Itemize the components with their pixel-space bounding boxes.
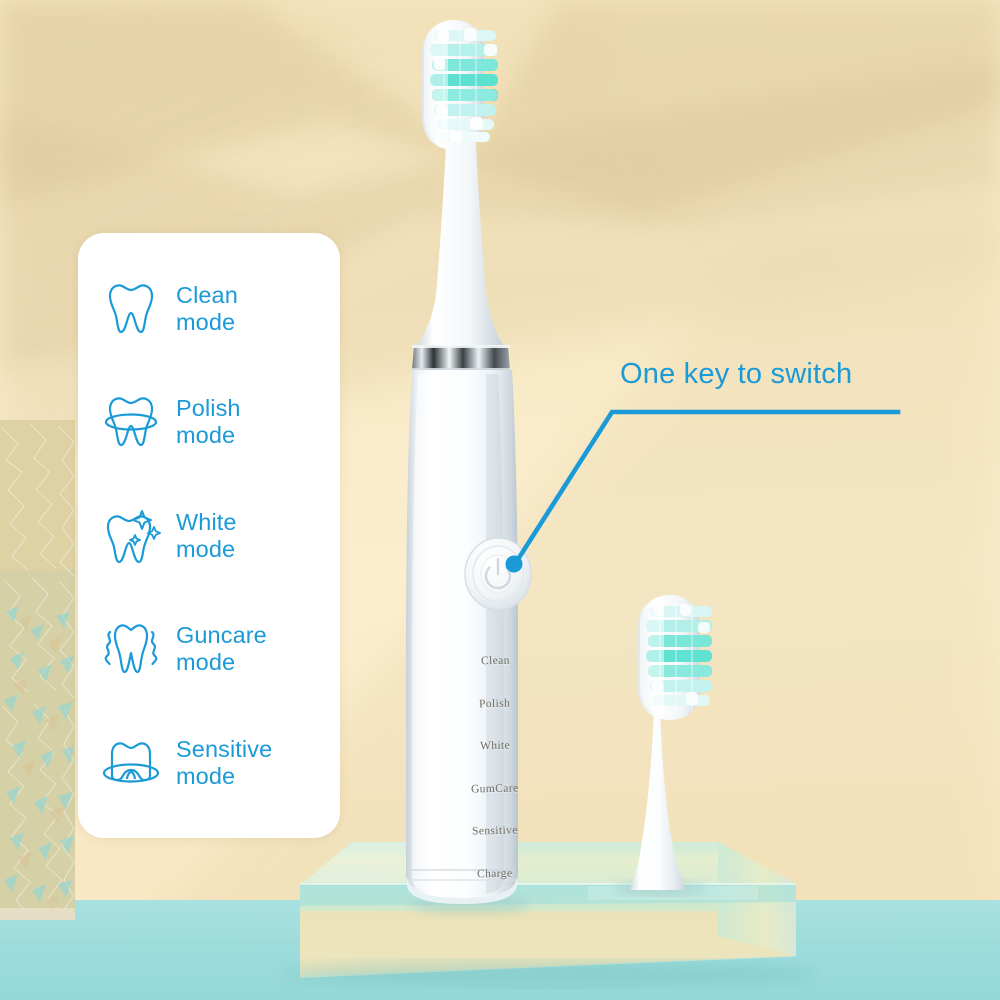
mode-list: Clean mode Polish mode <box>78 233 340 838</box>
mode-label-polish: Polish mode <box>176 395 241 449</box>
mode-item-sensitive[interactable]: Sensitive mode <box>78 711 340 815</box>
tooth-polish-icon <box>100 391 162 453</box>
mode-item-polish[interactable]: Polish mode <box>78 370 340 474</box>
mode-item-white[interactable]: White mode <box>78 484 340 588</box>
product-image-stage: Clean Polish White GumCare Sensitive Cha… <box>0 0 1000 1000</box>
mode-label-white: White mode <box>176 509 237 563</box>
callout-label: One key to switch <box>620 358 852 391</box>
callout-anchor-dot <box>506 556 523 573</box>
mode-list-card: Clean mode Polish mode <box>78 233 340 838</box>
mode-label-guncare: Guncare mode <box>176 622 267 676</box>
tooth-icon <box>100 278 162 340</box>
tooth-gumline-icon <box>100 732 162 794</box>
tooth-sparkle-icon <box>100 505 162 567</box>
crinkled-foil-panel <box>0 420 75 920</box>
spare-brush-head <box>602 592 752 897</box>
block-contact-shadow <box>250 950 850 998</box>
mode-item-clean[interactable]: Clean mode <box>78 257 340 361</box>
mode-item-guncare[interactable]: Guncare mode <box>78 597 340 701</box>
mode-label-clean: Clean mode <box>176 282 238 336</box>
tooth-vibrate-icon <box>100 618 162 680</box>
mode-label-sensitive: Sensitive mode <box>176 736 272 790</box>
